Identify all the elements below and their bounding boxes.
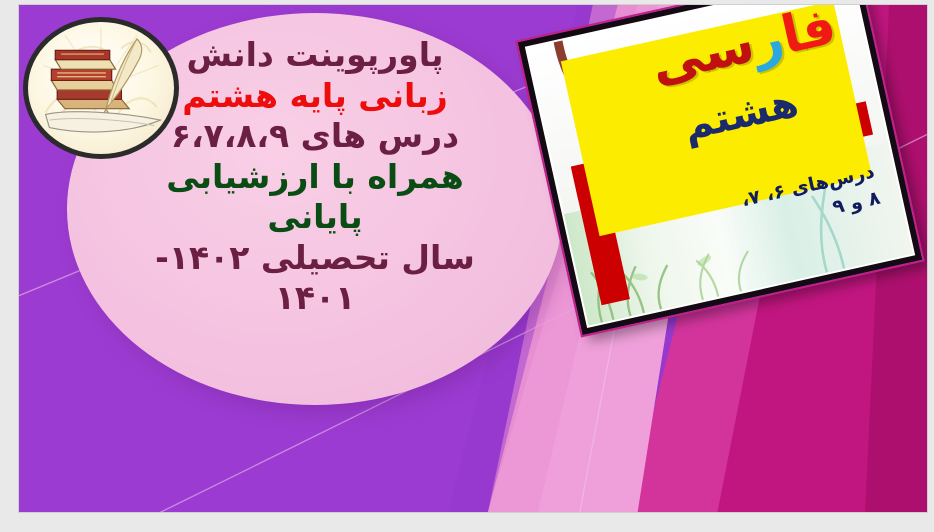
slide-canvas: پاورپوینت دانش زبانی پایه هشتم درس های ۶… — [18, 4, 928, 513]
books-quill-icon — [28, 22, 174, 154]
scroll-ribbon — [46, 112, 161, 132]
title-line-6: سال تحصیلی ۱۴۰۲- — [155, 238, 475, 279]
book-middle — [51, 69, 117, 90]
title-line-7: ۱۴۰۱ — [275, 278, 356, 319]
books-and-quill-emblem — [23, 17, 179, 159]
emblem-ring — [23, 17, 179, 159]
title-line-1: پاورپوینت دانش — [187, 35, 444, 76]
title-line-4: همراه با ارزشیابی — [166, 157, 463, 198]
title-line-2: زبانی پایه هشتم — [182, 76, 448, 117]
book-top — [55, 50, 115, 69]
slide-outer-frame: پاورپوینت دانش زبانی پایه هشتم درس های ۶… — [0, 0, 934, 532]
title-line-5: پایانی — [267, 197, 362, 238]
title-line-3: درس های ۶،۷،۸،۹ — [171, 116, 459, 157]
